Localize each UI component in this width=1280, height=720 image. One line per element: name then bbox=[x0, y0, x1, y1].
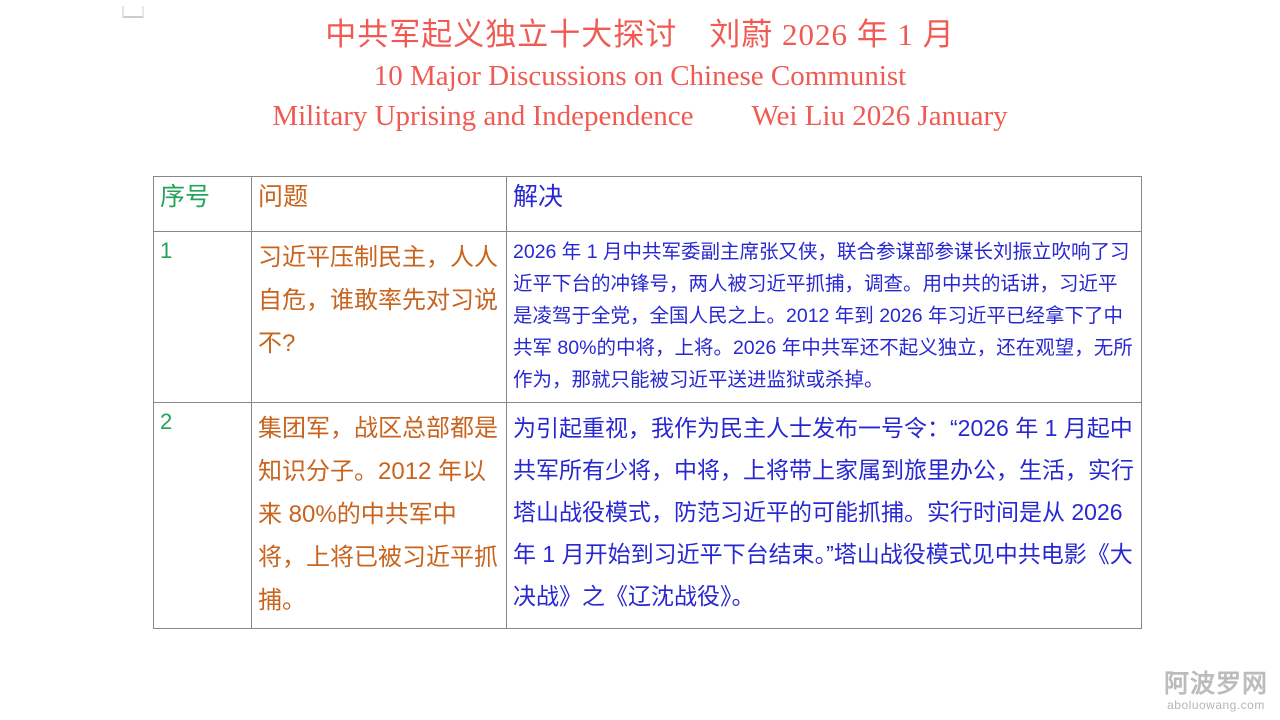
table-body: 1 习近平压制民主，人人自危，谁敢率先对习说不? 2026 年 1 月中共军委副… bbox=[154, 232, 1142, 629]
column-header-question: 问题 bbox=[252, 177, 507, 232]
table-row: 1 习近平压制民主，人人自危，谁敢率先对习说不? 2026 年 1 月中共军委副… bbox=[154, 232, 1142, 403]
page-title-chinese: 中共军起义独立十大探讨 刘蔚 2026 年 1 月 bbox=[0, 14, 1280, 56]
table-header: 序号 问题 解决 bbox=[154, 177, 1142, 232]
watermark-site-url: aboluowang.com bbox=[1164, 698, 1268, 712]
document-corner-artifact bbox=[122, 6, 144, 18]
column-header-sequence: 序号 bbox=[154, 177, 252, 232]
row-sequence-number: 2 bbox=[154, 403, 252, 629]
content-table-wrapper: 序号 问题 解决 1 习近平压制民主，人人自危，谁敢率先对习说不? 2026 年… bbox=[153, 176, 1141, 629]
row-solution-text: 2026 年 1 月中共军委副主席张又侠，联合参谋部参谋长刘振立吹响了习近平下台… bbox=[507, 232, 1142, 403]
title-block: 中共军起义独立十大探讨 刘蔚 2026 年 1 月 10 Major Discu… bbox=[0, 0, 1280, 136]
site-watermark: 阿波罗网 aboluowang.com bbox=[1164, 671, 1268, 712]
table-row: 2 集团军，战区总部都是知识分子。2012 年以来 80%的中共军中将，上将已被… bbox=[154, 403, 1142, 629]
row-question-text: 习近平压制民主，人人自危，谁敢率先对习说不? bbox=[252, 232, 507, 403]
watermark-site-name: 阿波罗网 bbox=[1164, 671, 1268, 698]
page-title-english-line2: Military Uprising and Independence Wei L… bbox=[0, 96, 1280, 136]
page-title-english-line1: 10 Major Discussions on Chinese Communis… bbox=[0, 56, 1280, 96]
discussion-table: 序号 问题 解决 1 习近平压制民主，人人自危，谁敢率先对习说不? 2026 年… bbox=[153, 176, 1142, 629]
row-sequence-number: 1 bbox=[154, 232, 252, 403]
row-question-text: 集团军，战区总部都是知识分子。2012 年以来 80%的中共军中将，上将已被习近… bbox=[252, 403, 507, 629]
column-header-solution: 解决 bbox=[507, 177, 1142, 232]
row-solution-text: 为引起重视，我作为民主人士发布一号令：“2026 年 1 月起中共军所有少将，中… bbox=[507, 403, 1142, 629]
table-header-row: 序号 问题 解决 bbox=[154, 177, 1142, 232]
